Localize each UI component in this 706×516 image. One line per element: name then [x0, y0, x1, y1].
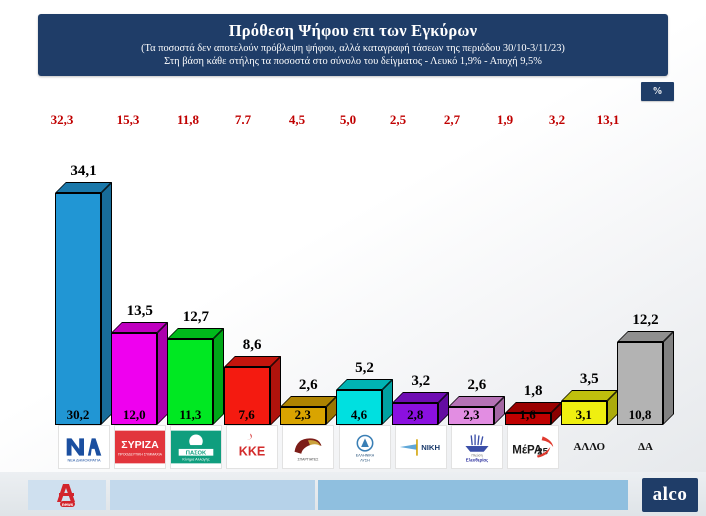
- bar-front-face: [561, 401, 607, 425]
- previous-value-πασοκ: 11,8: [168, 112, 208, 128]
- axis-label-da: ΔΑ: [620, 425, 672, 469]
- bar-front-face: [448, 407, 494, 425]
- bar-πασοκ[interactable]: 11,312,7: [167, 302, 224, 425]
- bar-ελληνικη-λυση[interactable]: 4,65,2: [336, 353, 393, 425]
- bar-συριζα[interactable]: 12,013,5: [111, 296, 168, 425]
- previous-value-πλευση-ελευθεριας: 2,7: [432, 112, 472, 128]
- plefsi-logo: ΠλεύσηΕλευθερίας: [451, 425, 503, 469]
- previous-measurement-row: 32,315,311,87.74,55,02,52,71,93,213,1: [0, 112, 706, 132]
- bar-top-value-label: 12,7: [167, 309, 224, 326]
- bar-δα[interactable]: 10,812,2: [617, 305, 674, 425]
- mera25-logo: ΜέΡΑ25: [507, 425, 559, 469]
- previous-value-νεα-δημοκρατια: 32,3: [42, 112, 82, 128]
- alco-logo: alco: [642, 478, 698, 512]
- footer-segment-3: [318, 480, 628, 510]
- bar-front-face: [505, 413, 551, 425]
- bar-3d-body: 7,6: [224, 356, 281, 426]
- bar-3d-body: 1,6: [505, 402, 562, 425]
- bar-front-face: [392, 403, 438, 425]
- bar-front-face: [617, 342, 663, 425]
- bar-top-value-label: 8,6: [224, 337, 281, 354]
- svg-text:ΣΠΑΡΤΙΑΤΕΣ: ΣΠΑΡΤΙΑΤΕΣ: [298, 457, 319, 461]
- previous-value-σπαρτιατες: 4,5: [277, 112, 317, 128]
- page-title: Πρόθεση Ψήφου επι των Εγκύρων: [229, 22, 478, 41]
- bar-top-value-label: 12,2: [617, 312, 674, 329]
- bar-front-face: [167, 339, 213, 425]
- previous-value-ελληνικη-λυση: 5,0: [328, 112, 368, 128]
- svg-text:ΣΥΡΙΖΑ: ΣΥΡΙΖΑ: [121, 439, 159, 451]
- svg-text:ΚΚΕ: ΚΚΕ: [239, 445, 265, 459]
- footer-bar: news alco: [0, 472, 706, 516]
- nd-logo: ΝΕΑ ΔΗΜΟΚΡΑΤΙΑ: [58, 425, 110, 469]
- svg-text:Ελευθερίας: Ελευθερίας: [466, 457, 489, 462]
- bar-top-value-label: 2,6: [448, 377, 505, 394]
- syriza-logo: ΣΥΡΙΖΑΠΡΟΟΔΕΥΤΙΚΗ ΣΥΜΜΑΧΙΑ: [114, 425, 166, 469]
- bar-3d-body: 30,2: [55, 182, 112, 425]
- svg-text:ΠΡΟΟΔΕΥΤΙΚΗ ΣΥΜΜΑΧΙΑ: ΠΡΟΟΔΕΥΤΙΚΗ ΣΥΜΜΑΧΙΑ: [118, 453, 163, 457]
- bar-σπαρτιατες[interactable]: 2,32,6: [280, 370, 337, 425]
- svg-text:Κίνημα Αλλαγής: Κίνημα Αλλαγής: [182, 457, 209, 461]
- previous-value-κκε: 7.7: [223, 112, 263, 128]
- svg-text:ΝΕΑ ΔΗΜΟΚΡΑΤΙΑ: ΝΕΑ ΔΗΜΟΚΡΑΤΙΑ: [67, 458, 100, 462]
- subtitle-line-2: Στη βάση κάθε στήλης τα ποσοστά στο σύνο…: [164, 55, 542, 68]
- bar-νικη[interactable]: 2,83,2: [392, 366, 449, 425]
- niki-logo: ΝΙΚΗ: [395, 425, 447, 469]
- svg-text:ΛΥΣΗ: ΛΥΣΗ: [360, 458, 370, 462]
- bar-3d-body: 2,8: [392, 392, 449, 425]
- previous-value-μέρα25: 1,9: [485, 112, 525, 128]
- bar-top-value-label: 5,2: [336, 360, 393, 377]
- bar-front-face: [111, 333, 157, 425]
- bar-front-face: [55, 193, 101, 425]
- bar-3d-body: 12,0: [111, 322, 168, 425]
- bar-3d-body: 4,6: [336, 379, 393, 425]
- bar-3d-body: 10,8: [617, 331, 674, 425]
- party-logo-axis: ΝΕΑ ΔΗΜΟΚΡΑΤΙΑΣΥΡΙΖΑΠΡΟΟΔΕΥΤΙΚΗ ΣΥΜΜΑΧΙΑ…: [0, 425, 706, 473]
- bar-3d-body: 2,3: [448, 396, 505, 425]
- bar-πλευση-ελευθεριας[interactable]: 2,32,6: [448, 370, 505, 425]
- svg-text:news: news: [62, 502, 74, 507]
- bar-νεα-δημοκρατια[interactable]: 30,234,1: [55, 156, 112, 425]
- spartiates-logo: ΣΠΑΡΤΙΑΤΕΣ: [282, 425, 334, 469]
- kke-logo: ΚΚΕ: [226, 425, 278, 469]
- axis-label-allo: ΑΛΛΟ: [563, 425, 615, 469]
- svg-text:ΕΛΛΗΝΙΚΗ: ΕΛΛΗΝΙΚΗ: [355, 454, 374, 458]
- bar-chart-plot-area: 30,234,112,013,511,312,77,68,62,32,64,65…: [0, 130, 706, 425]
- bar-μέρα25[interactable]: 1,61,8: [505, 376, 562, 425]
- previous-value-δα: 13,1: [588, 112, 628, 128]
- bar-top-value-label: 2,6: [280, 377, 337, 394]
- bar-top-face: [224, 356, 281, 367]
- svg-text:ΠΑΣΟΚ: ΠΑΣΟΚ: [186, 451, 207, 457]
- bar-top-value-label: 3,2: [392, 373, 449, 390]
- previous-value-συριζα: 15,3: [108, 112, 148, 128]
- svg-text:ΝΙΚΗ: ΝΙΚΗ: [421, 443, 440, 452]
- bar-front-face: [224, 367, 270, 426]
- subtitle-line-1: (Τα ποσοστά δεν αποτελούν πρόβλεψη ψήφου…: [141, 42, 565, 55]
- chart-title-band: Πρόθεση Ψήφου επι των Εγκύρων (Τα ποσοστ…: [38, 14, 668, 76]
- bar-side-face: [663, 331, 674, 425]
- pasok-logo: ΠΑΣΟΚΚίνημα Αλλαγής: [170, 425, 222, 469]
- bar-3d-body: 3,1: [561, 390, 618, 425]
- previous-value-αλλο: 3,2: [537, 112, 577, 128]
- elliniki-lysi-logo: ΕΛΛΗΝΙΚΗΛΥΣΗ: [339, 425, 391, 469]
- bar-κκε[interactable]: 7,68,6: [224, 330, 281, 426]
- bar-αλλο[interactable]: 3,13,5: [561, 364, 618, 425]
- alpha-news-logo: news: [28, 480, 106, 510]
- bar-top-value-label: 34,1: [55, 163, 112, 180]
- bar-3d-body: 2,3: [280, 396, 337, 425]
- bar-top-value-label: 3,5: [561, 371, 618, 388]
- bar-front-face: [280, 407, 326, 425]
- bar-top-value-label: 1,8: [505, 383, 562, 400]
- bar-3d-body: 11,3: [167, 328, 224, 425]
- bar-front-face: [336, 390, 382, 425]
- footer-segment-2: [200, 480, 315, 510]
- previous-value-νικη: 2,5: [378, 112, 418, 128]
- percent-unit-badge: %: [641, 82, 674, 101]
- bar-top-value-label: 13,5: [111, 303, 168, 320]
